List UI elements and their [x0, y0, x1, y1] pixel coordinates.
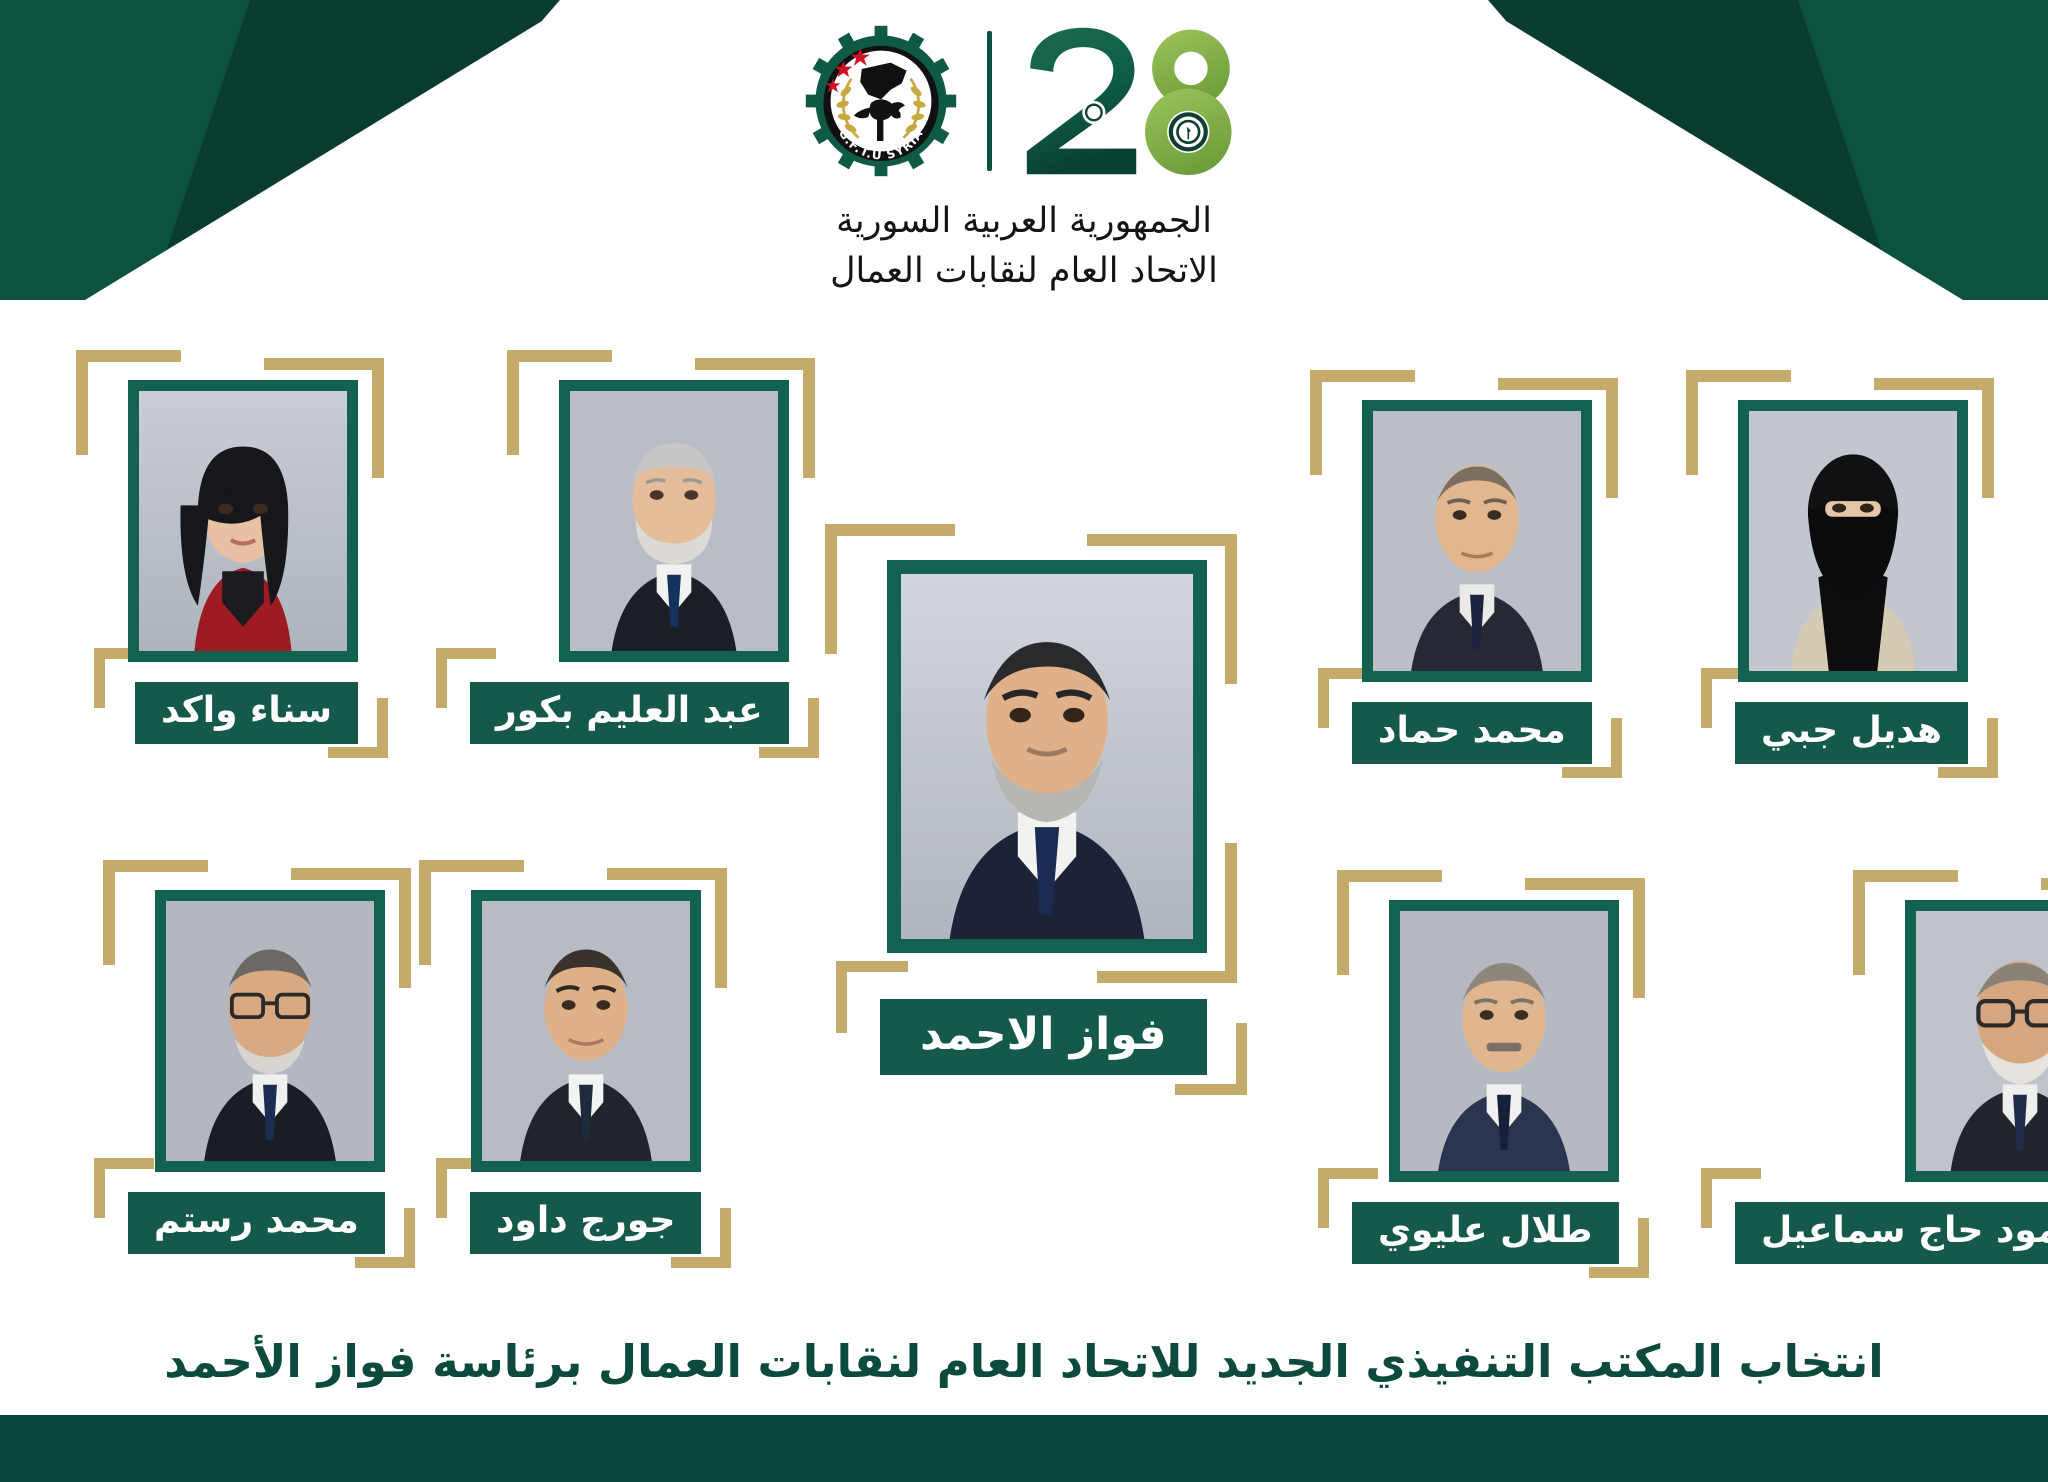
member-nameplate-wrap: محمد رستم [128, 1172, 385, 1254]
logo-row: G.F.T.U SYRIA [801, 8, 1247, 193]
member-card[interactable]: جورج داود [470, 890, 701, 1254]
gftu-syria-logo: G.F.T.U SYRIA [801, 21, 961, 181]
member-name: هديل جبي [1735, 702, 1968, 764]
member-nameplate-wrap: محمود حاج سماعيل [1735, 1182, 2048, 1264]
member-nameplate-wrap: سناء واكد [128, 662, 358, 744]
member-nameplate-wrap: طلال عليوي [1352, 1182, 1619, 1264]
member-card[interactable]: عبد العليم بكور [470, 380, 789, 744]
bottom-bar [0, 1415, 2048, 1482]
poster-canvas: G.F.T.U SYRIA الجمهورية العربية السورية … [0, 0, 2048, 1482]
member-nameplate-wrap: جورج داود [470, 1172, 701, 1254]
member-name: طلال عليوي [1352, 1202, 1619, 1264]
featured-member-card[interactable]: فواز الاحمد [880, 560, 1207, 1075]
country-name: الجمهورية العربية السورية [830, 197, 1218, 247]
member-name: محمود حاج سماعيل [1735, 1202, 2048, 1264]
poster-header: G.F.T.U SYRIA الجمهورية العربية السورية … [0, 0, 2048, 330]
member-nameplate-wrap: هديل جبي [1735, 682, 1968, 764]
featured-nameplate-wrap: فواز الاحمد [880, 979, 1207, 1075]
organization-titles: الجمهورية العربية السورية الاتحاد العام … [830, 197, 1218, 296]
member-name: سناء واكد [135, 682, 358, 744]
member-name: جورج داود [470, 1192, 701, 1254]
member-card[interactable]: محمد حماد [1352, 400, 1592, 764]
federation-name: الاتحاد العام لنقابات العمال [830, 247, 1218, 297]
member-card[interactable]: سناء واكد [128, 380, 358, 744]
member-name: عبد العليم بكور [470, 682, 789, 744]
member-name: محمد حماد [1352, 702, 1592, 764]
member-card[interactable]: طلال عليوي [1352, 900, 1619, 1264]
featured-member-name: فواز الاحمد [880, 999, 1207, 1075]
member-card[interactable]: محمود حاج سماعيل [1735, 900, 2048, 1264]
header-divider [987, 31, 992, 171]
member-name: محمد رستم [128, 1192, 385, 1254]
anniversary-28-logo [1018, 26, 1247, 176]
member-nameplate-wrap: محمد حماد [1352, 682, 1592, 764]
member-nameplate-wrap: عبد العليم بكور [470, 662, 789, 744]
member-card[interactable]: هديل جبي [1735, 400, 1968, 764]
member-card[interactable]: محمد رستم [128, 890, 385, 1254]
poster-caption: انتخاب المكتب التنفيذي الجديد للاتحاد ال… [0, 1334, 2048, 1390]
